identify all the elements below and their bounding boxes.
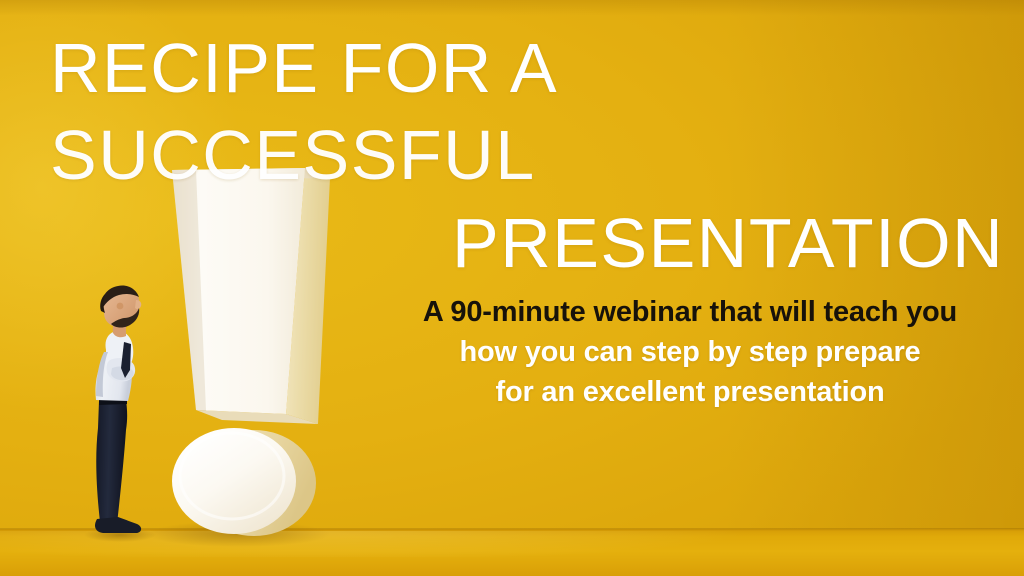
figure-ear [117, 303, 124, 310]
figure-trousers [96, 400, 127, 524]
webinar-promo-slide: SUCCESSFUL [0, 0, 1024, 576]
figure-front-shoe [95, 517, 141, 533]
businessman-figure [0, 0, 1024, 576]
figure-nose [135, 300, 141, 309]
